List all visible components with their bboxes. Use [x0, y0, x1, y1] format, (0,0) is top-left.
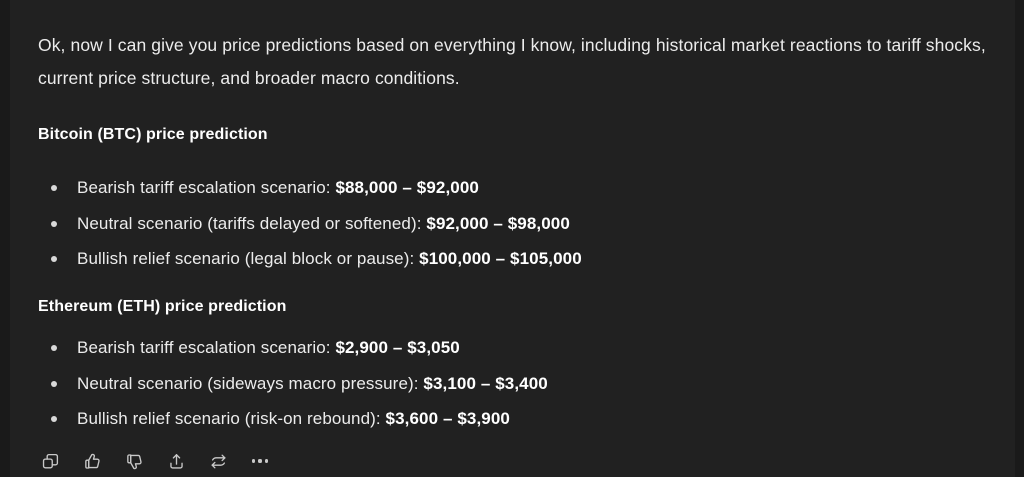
list-item: Bullish relief scenario (legal block or …	[38, 248, 582, 270]
section-heading-bitcoin: Bitcoin (BTC) price prediction	[38, 126, 268, 144]
assistant-message: Ok, now I can give you price predictions…	[38, 0, 1004, 477]
copy-button[interactable]	[38, 449, 62, 473]
regenerate-button[interactable]	[206, 449, 230, 473]
scenario-label: Bullish relief scenario (legal block or …	[77, 249, 414, 268]
scenario-label: Bullish relief scenario (risk-on rebound…	[77, 409, 381, 428]
scenario-label: Neutral scenario (sideways macro pressur…	[77, 374, 419, 393]
scenario-value: $100,000 – $105,000	[419, 249, 582, 268]
bullet-dot-icon	[51, 185, 57, 191]
list-item: Neutral scenario (sideways macro pressur…	[38, 373, 548, 395]
bullet-dot-icon	[51, 416, 57, 422]
scenario-label: Bearish tariff escalation scenario:	[77, 178, 331, 197]
message-action-bar	[38, 449, 272, 473]
thumbs-down-button[interactable]	[122, 449, 146, 473]
scenario-value: $92,000 – $98,000	[426, 214, 570, 233]
thumbs-up-icon	[83, 452, 102, 471]
more-options-icon	[252, 459, 269, 462]
intro-paragraph: Ok, now I can give you price predictions…	[38, 29, 1004, 95]
scenario-label: Neutral scenario (tariffs delayed or sof…	[77, 214, 422, 233]
ethereum-prediction-list: Bearish tariff escalation scenario: $2,9…	[38, 337, 548, 430]
list-item: Bullish relief scenario (risk-on rebound…	[38, 408, 548, 430]
list-item: Neutral scenario (tariffs delayed or sof…	[38, 213, 582, 235]
bullet-dot-icon	[51, 256, 57, 262]
bullet-dot-icon	[51, 221, 57, 227]
left-edge-gutter	[0, 0, 10, 477]
right-edge-gutter	[1015, 0, 1024, 477]
regenerate-icon	[209, 452, 228, 471]
scenario-value: $3,100 – $3,400	[423, 374, 547, 393]
scenario-value: $2,900 – $3,050	[335, 338, 459, 357]
share-icon	[167, 452, 186, 471]
chat-message-pane: Ok, now I can give you price predictions…	[0, 0, 1024, 477]
scenario-label: Bearish tariff escalation scenario:	[77, 338, 331, 357]
scenario-value: $88,000 – $92,000	[335, 178, 479, 197]
share-button[interactable]	[164, 449, 188, 473]
bullet-dot-icon	[51, 381, 57, 387]
section-heading-ethereum: Ethereum (ETH) price prediction	[38, 298, 286, 316]
bullet-dot-icon	[51, 345, 57, 351]
bitcoin-prediction-list: Bearish tariff escalation scenario: $88,…	[38, 177, 582, 270]
thumbs-up-button[interactable]	[80, 449, 104, 473]
copy-icon	[41, 452, 60, 471]
list-item: Bearish tariff escalation scenario: $2,9…	[38, 337, 548, 359]
more-options-button[interactable]	[248, 449, 272, 473]
list-item: Bearish tariff escalation scenario: $88,…	[38, 177, 582, 199]
scenario-value: $3,600 – $3,900	[386, 409, 510, 428]
thumbs-down-icon	[125, 452, 144, 471]
